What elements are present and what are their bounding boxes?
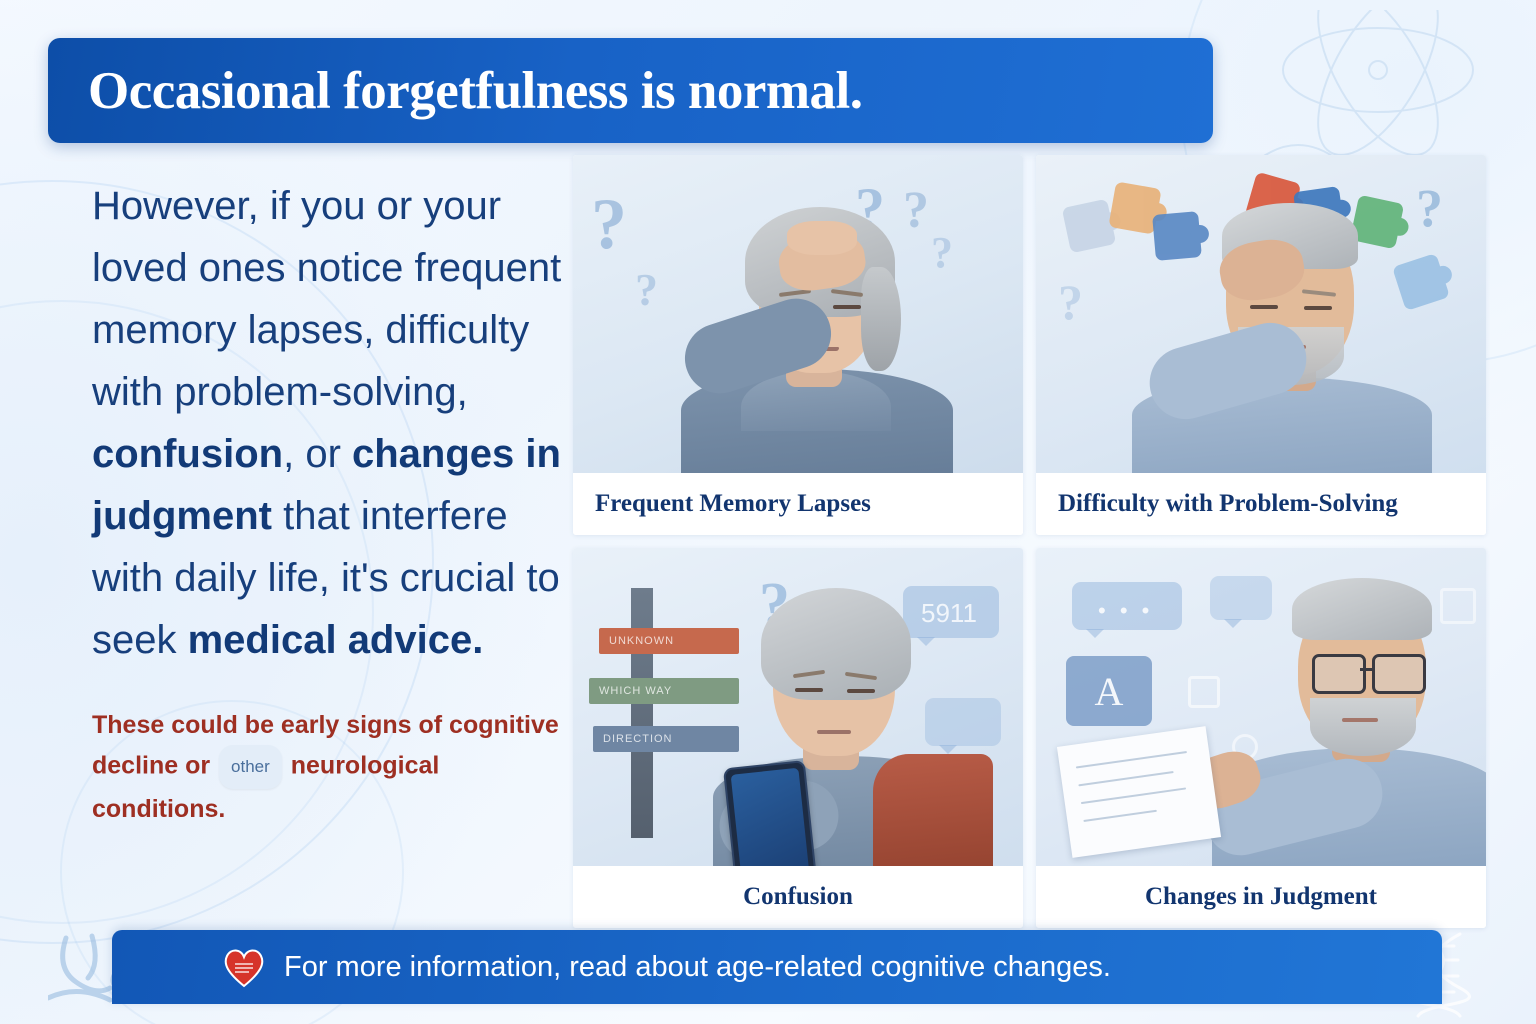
paragraph-run-1: confusion bbox=[92, 432, 283, 476]
caption-confusion: Confusion bbox=[573, 866, 1023, 928]
smartphone-icon bbox=[723, 760, 817, 866]
caption-changes-in-judgment: Changes in Judgment bbox=[1036, 866, 1486, 928]
header-banner: Occasional forgetfulness is normal. bbox=[48, 38, 1213, 143]
other-pill-badge: other bbox=[219, 745, 282, 789]
body-paragraph: However, if you or your loved ones notic… bbox=[92, 175, 570, 671]
heart-icon bbox=[222, 946, 266, 988]
photo-confusion: UNKNOWN WHICH WAY DIRECTION ? 5911 bbox=[573, 548, 1023, 866]
card-frequent-memory-lapses: ? ? ? ? ? bbox=[573, 155, 1023, 535]
person-illustration bbox=[1036, 155, 1486, 473]
card-confusion: UNKNOWN WHICH WAY DIRECTION ? 5911 bbox=[573, 548, 1023, 928]
photo-frequent-memory-lapses: ? ? ? ? ? bbox=[573, 155, 1023, 473]
paragraph-run-5: medical advice. bbox=[188, 618, 484, 662]
person-illustration bbox=[573, 548, 1023, 866]
footer-banner: For more information, read about age-rel… bbox=[112, 930, 1442, 1004]
left-text-column: However, if you or your loved ones notic… bbox=[92, 175, 570, 829]
person-illustration bbox=[573, 155, 1023, 473]
card-difficulty-problem-solving: ? ? bbox=[1036, 155, 1486, 535]
person-illustration bbox=[1036, 548, 1486, 866]
paragraph-run-2: , or bbox=[283, 432, 352, 476]
caption-difficulty-problem-solving: Difficulty with Problem-Solving bbox=[1036, 473, 1486, 535]
poster-canvas: Occasional forgetfulness is normal. Howe… bbox=[0, 0, 1536, 1024]
photo-difficulty-problem-solving: ? ? bbox=[1036, 155, 1486, 473]
caption-frequent-memory-lapses: Frequent Memory Lapses bbox=[573, 473, 1023, 535]
eyeglasses-icon bbox=[1312, 654, 1366, 694]
document-icon bbox=[1057, 726, 1221, 858]
image-grid: ? ? ? ? ? bbox=[573, 155, 1486, 930]
paragraph-run-0: However, if you or your loved ones notic… bbox=[92, 184, 561, 414]
footer-text: For more information, read about age-rel… bbox=[284, 951, 1111, 984]
card-changes-in-judgment: • • • A bbox=[1036, 548, 1486, 928]
photo-changes-in-judgment: • • • A bbox=[1036, 548, 1486, 866]
page-title: Occasional forgetfulness is normal. bbox=[88, 61, 863, 121]
eyeglasses-icon bbox=[1372, 654, 1426, 694]
warning-text: These could be early signs of cognitive … bbox=[92, 705, 570, 829]
